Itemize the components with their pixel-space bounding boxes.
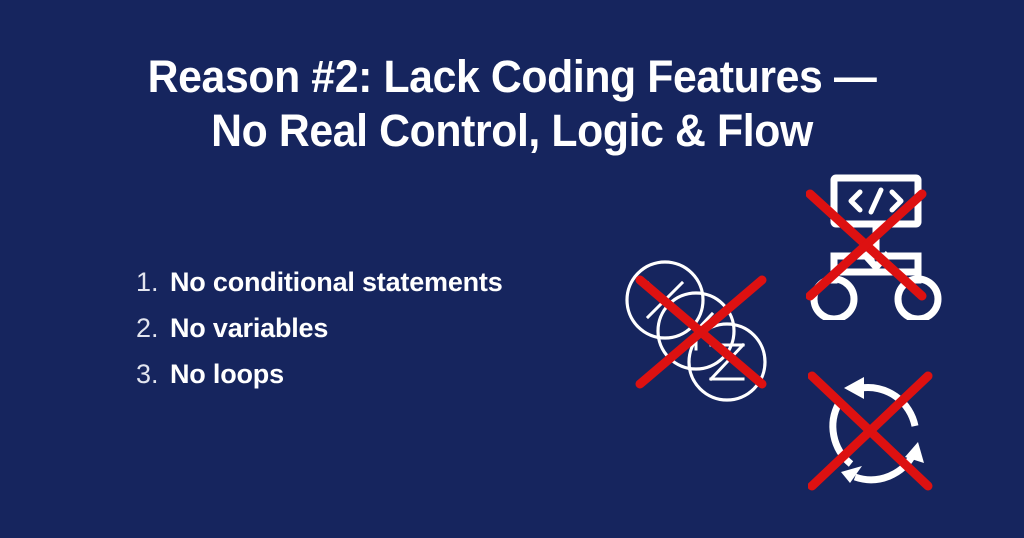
red-strike-through bbox=[812, 376, 928, 486]
list-item-number: 3. bbox=[136, 358, 170, 390]
list-item-number: 2. bbox=[136, 312, 170, 344]
list-item-label: No conditional statements bbox=[170, 266, 503, 298]
variables-crossed-out-icon bbox=[622, 258, 778, 406]
list-item-number: 1. bbox=[136, 266, 170, 298]
code-flowchart-crossed-out-icon bbox=[806, 172, 946, 320]
slide-canvas: Reason #2: Lack Coding Features — No Rea… bbox=[0, 0, 1024, 538]
feature-list: 1. No conditional statements 2. No varia… bbox=[136, 266, 606, 404]
red-strike-through bbox=[810, 194, 922, 296]
list-item: 1. No conditional statements bbox=[136, 266, 606, 298]
list-item-label: No variables bbox=[170, 312, 328, 344]
code-brackets-icon bbox=[851, 190, 901, 212]
list-item: 2. No variables bbox=[136, 312, 606, 344]
loop-arrows-crossed-out-icon bbox=[808, 368, 944, 494]
title-line-1: Reason #2: Lack Coding Features — bbox=[26, 50, 999, 104]
list-item: 3. No loops bbox=[136, 358, 606, 390]
page-title: Reason #2: Lack Coding Features — No Rea… bbox=[0, 50, 1024, 158]
list-item-label: No loops bbox=[170, 358, 284, 390]
title-line-2: No Real Control, Logic & Flow bbox=[26, 104, 999, 158]
